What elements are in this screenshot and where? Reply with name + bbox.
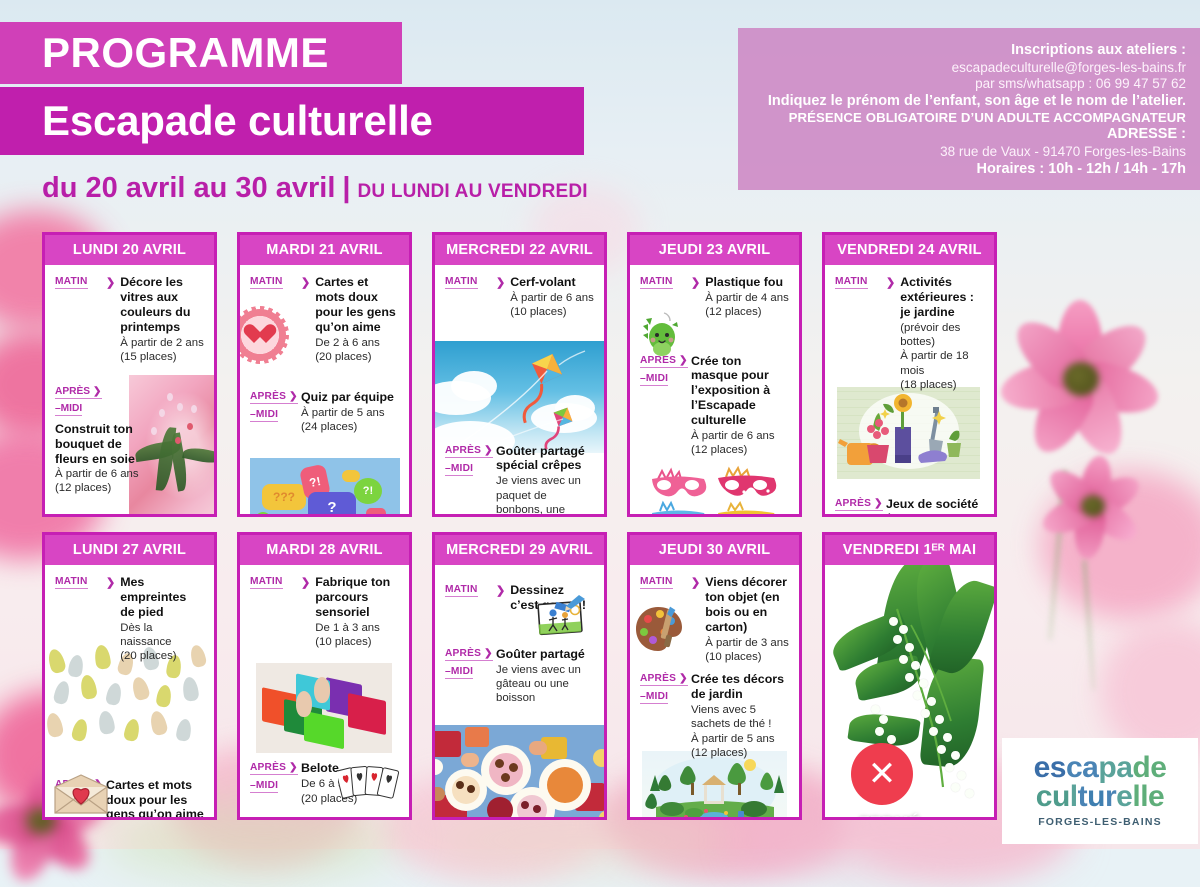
- day-card-jeudi-30-avril[interactable]: JEUDI 30 AVRIL MATIN ❯: [627, 532, 802, 820]
- day-card-title: MERCREDI 29 AVRIL: [435, 535, 604, 565]
- morning-label: MATIN: [250, 576, 283, 589]
- morning-slot: MATIN ❯ Activités extérieures : je jardi…: [835, 275, 984, 392]
- day-card-title: JEUDI 23 AVRIL: [630, 235, 799, 265]
- chevron-right-icon: ❯: [496, 583, 505, 613]
- afternoon-label-second: –MIDI: [445, 666, 473, 679]
- program-grid: LUNDI 20 AVRIL MATIN ❯: [0, 0, 1200, 849]
- gardening-illustration: [837, 387, 980, 479]
- morning-label: MATIN: [55, 276, 88, 289]
- quiz-illustration: ??? ?! ? ?!: [250, 458, 400, 514]
- day-card-body: MATIN ❯ Cartes et mots doux pour les gen…: [240, 265, 409, 514]
- activity-name: Crée tes décors de jardin: [691, 672, 789, 702]
- morning-slot: MATIN ❯ Fabrique ton parcours sensoriel …: [250, 575, 399, 649]
- playing-cards-icon: [338, 763, 400, 808]
- chevron-right-icon: ❯: [886, 275, 895, 392]
- garden-scene-illustration: [642, 751, 787, 817]
- activity-detail: De 2 à 6 ans (20 places): [315, 336, 399, 365]
- chevron-right-icon: ❯: [301, 275, 310, 364]
- day-card-body: MATIN ❯ Fabrique ton parcours sensoriel …: [240, 565, 409, 817]
- day-card-mercredi-29-avril[interactable]: MERCREDI 29 AVRIL MATIN ❯ Dessinez c’est…: [432, 532, 607, 820]
- activity-name: Goûter partagé: [496, 647, 594, 662]
- chevron-right-icon: ❯: [691, 575, 700, 664]
- morning-label: MATIN: [250, 276, 283, 289]
- day-card-body: MATIN ❯ Décore les vitres aux couleurs d…: [45, 265, 214, 514]
- day-card-body: MATIN ❯ Plastique fou À partir de 4 ans …: [630, 265, 799, 514]
- morning-slot: MATIN ❯ Décore les vitres aux couleurs d…: [55, 275, 204, 364]
- activity-detail: De 1 à 3 ans (10 places): [315, 621, 399, 650]
- activity-name: Mes empreintes de pied: [120, 575, 204, 620]
- morning-label: MATIN: [640, 276, 673, 289]
- afternoon-slot: APRÈS ❯ –MIDI Construit ton bouquet de f…: [55, 386, 204, 495]
- afternoon-label: APRÈS ❯: [835, 498, 883, 511]
- morning-label: MATIN: [445, 276, 478, 289]
- activity-detail: À partir de 6 ans (10 places): [510, 291, 594, 320]
- logo-line-2: culturelle: [1036, 783, 1164, 812]
- day-card-lundi-27-avril[interactable]: LUNDI 27 AVRIL: [42, 532, 217, 820]
- activity-name: Crée ton masque pour l’exposition à l’Es…: [691, 354, 789, 428]
- activity-detail: À partir de 5 ans (20 places): [886, 513, 984, 514]
- envelope-heart-icon: [53, 773, 109, 817]
- activity-detail: À partir de 5 ans (24 places): [301, 406, 399, 435]
- activity-name: Activités extérieures : je jardine: [900, 275, 984, 320]
- day-card-jeudi-23-avril[interactable]: JEUDI 23 AVRIL MATIN ❯: [627, 232, 802, 517]
- paint-palette-icon: [634, 605, 684, 658]
- activity-name: Fabrique ton parcours sensoriel: [315, 575, 399, 620]
- shared-snack-illustration: [435, 725, 604, 817]
- day-card-title: LUNDI 27 AVRIL: [45, 535, 214, 565]
- activity-detail: À partir de 4 ans (12 places): [705, 291, 789, 320]
- lily-of-the-valley-photo: ✕ FERMÉ: [825, 565, 994, 817]
- activity-detail: Dès la naissance (20 places): [120, 621, 204, 664]
- day-card-body: MATIN ❯ Mes empreintes de pied Dès la na…: [45, 565, 214, 817]
- afternoon-slot: APRÈS ❯ –MIDI Quiz par équipe À partir d…: [250, 390, 399, 435]
- activity-detail: À partir de 6 ans (12 places): [691, 429, 789, 458]
- activity-detail: À partir de 3 ans (10 places): [705, 636, 789, 665]
- afternoon-label: APRÈS ❯: [55, 386, 102, 399]
- afternoon-label: APRÈS ❯: [445, 445, 493, 458]
- day-card-title: VENDREDI 1ᴱᴿ MAI: [825, 535, 994, 565]
- day-card-title: JEUDI 30 AVRIL: [630, 535, 799, 565]
- day-card-body: MATIN ❯ Activités extérieures : je jardi…: [825, 265, 994, 514]
- activity-detail: À partir de 6 ans (12 places): [55, 467, 147, 496]
- day-card-title: VENDREDI 24 AVRIL: [825, 235, 994, 265]
- day-card-vendredi-1er-mai[interactable]: VENDREDI 1ᴱᴿ MAI: [822, 532, 997, 820]
- activity-name: Construit ton bouquet de fleurs en soie: [55, 422, 147, 467]
- day-card-mardi-28-avril[interactable]: MARDI 28 AVRIL MATIN ❯ Fabrique ton parc…: [237, 532, 412, 820]
- activity-name: Goûter partagé spécial crêpes: [496, 444, 594, 474]
- morning-label: MATIN: [835, 276, 868, 289]
- morning-label: MATIN: [640, 576, 673, 589]
- activity-detail: Viens avec 5 sachets de thé ! À partir d…: [691, 703, 789, 760]
- sensory-mat-photo: [256, 663, 392, 753]
- day-card-body: MATIN ❯ Dessinez c’est gagné !: [435, 565, 604, 817]
- morning-slot: MATIN ❯ Mes empreintes de pied Dès la na…: [55, 575, 204, 664]
- day-card-title: LUNDI 20 AVRIL: [45, 235, 214, 265]
- chevron-right-icon: ❯: [106, 275, 115, 364]
- chevron-right-icon: ❯: [691, 275, 700, 320]
- afternoon-slot: APRÈS ❯ –MIDI Goûter partagé spécial crê…: [445, 444, 594, 514]
- morning-label: MATIN: [445, 584, 478, 597]
- afternoon-label-second: –MIDI: [250, 780, 278, 793]
- morning-label-group: MATIN: [55, 275, 101, 364]
- activity-name: Quiz par équipe: [301, 390, 399, 405]
- day-card-body: MATIN ❯ Cerf-volant À partir de 6 ans (1…: [435, 265, 604, 514]
- afternoon-label-second: –MIDI: [640, 373, 668, 386]
- escapade-culturelle-logo: escapade culturelle FORGES-LES-BAINS: [1002, 738, 1198, 844]
- day-card-mercredi-22-avril[interactable]: MERCREDI 22 AVRIL MATIN ❯ Cerf-volant À …: [432, 232, 607, 517]
- activity-detail: (prévoir des bottes) À partir de 18 mois…: [900, 321, 984, 393]
- chevron-right-icon: ❯: [301, 575, 310, 649]
- closed-label: FERMÉ: [859, 813, 921, 817]
- day-card-title: MARDI 28 AVRIL: [240, 535, 409, 565]
- activity-name: Cerf-volant: [510, 275, 594, 290]
- chevron-right-icon: ❯: [106, 575, 115, 664]
- afternoon-slot: APRÈS ❯ –MIDI Crée ton masque pour l’exp…: [640, 354, 789, 458]
- kites-svg: [435, 341, 604, 453]
- activity-detail: Je viens avec un paquet de bonbons, une …: [496, 474, 594, 514]
- cross-circle-icon: ✕: [851, 743, 913, 805]
- drawing-icon: [535, 593, 587, 642]
- afternoon-slot: APRÈS ❯ –MIDI Crée tes décors de jardin …: [640, 672, 789, 760]
- afternoon-slot: APRÈS ❯ –MIDI Jeux de société À partir d…: [835, 497, 984, 514]
- activity-detail: Je viens avec un gâteau ou une boisson: [496, 663, 594, 706]
- day-card-body: MATIN ❯ Viens décorer ton objet (en bois…: [630, 565, 799, 817]
- heart-stamp-icon: [240, 309, 286, 361]
- dino-charm-icon: [640, 309, 684, 364]
- morning-label: MATIN: [55, 576, 88, 589]
- afternoon-label: APRÈS ❯: [250, 762, 298, 775]
- day-card-vendredi-24-avril[interactable]: VENDREDI 24 AVRIL MATIN ❯ Activités exté…: [822, 232, 997, 517]
- afternoon-label-second: –MIDI: [55, 403, 82, 416]
- afternoon-label: APRÈS ❯: [445, 648, 493, 661]
- activity-name: Cartes et mots doux pour les gens qu’on …: [315, 275, 399, 335]
- carnival-masks-illustration: [648, 465, 782, 514]
- day-card-lundi-20-avril[interactable]: LUNDI 20 AVRIL MATIN ❯: [42, 232, 217, 517]
- afternoon-slot: APRÈS ❯ –MIDI Goûter partagé Je viens av…: [445, 647, 594, 706]
- kite-sky-illustration: [435, 341, 604, 453]
- day-card-title: MARDI 21 AVRIL: [240, 235, 409, 265]
- afternoon-label: APRÈS ❯: [640, 673, 688, 686]
- activity-name: Viens décorer ton objet (en bois ou en c…: [705, 575, 789, 635]
- morning-slot: MATIN ❯ Cerf-volant À partir de 6 ans (1…: [445, 275, 594, 320]
- afternoon-label: APRÈS ❯: [250, 391, 298, 404]
- chevron-right-icon: ❯: [496, 275, 505, 320]
- activity-name: Jeux de société: [886, 497, 984, 512]
- afternoon-label-second: –MIDI: [640, 691, 668, 704]
- activity-name: Plastique fou: [705, 275, 789, 290]
- logo-subtitle: FORGES-LES-BAINS: [1038, 816, 1162, 828]
- afternoon-label-second: –MIDI: [445, 463, 473, 476]
- logo-line-1: escapade: [1034, 754, 1167, 783]
- activity-name: Décore les vitres aux couleurs du printe…: [120, 275, 204, 335]
- activity-detail: À partir de 2 ans (15 places): [120, 336, 204, 365]
- activity-name: Cartes et mots doux pour les gens qu’on …: [106, 778, 204, 817]
- day-card-mardi-21-avril[interactable]: MARDI 21 AVRIL MATIN ❯ Cartes et mots do…: [237, 232, 412, 517]
- afternoon-label-second: –MIDI: [250, 409, 278, 422]
- day-card-title: MERCREDI 22 AVRIL: [435, 235, 604, 265]
